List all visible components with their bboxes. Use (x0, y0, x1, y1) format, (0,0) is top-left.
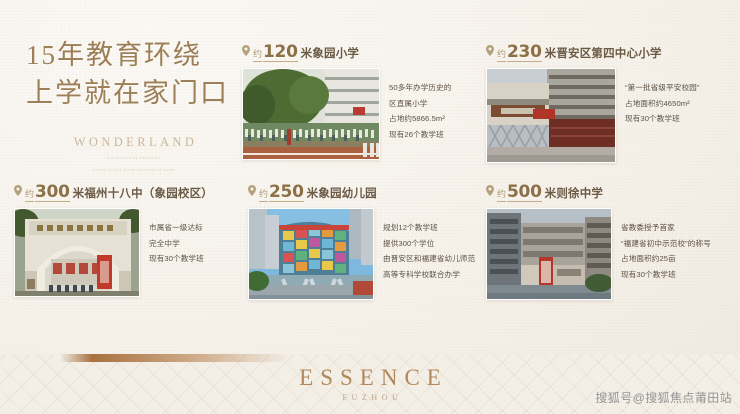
desc-line: “第一批省级平安校园” (625, 80, 736, 96)
desc-line: 规划12个教学班 (383, 220, 488, 236)
school-card-xiangyuan-kindergarten: 约 250 米象园幼儿园 (248, 184, 488, 300)
desc-line: 占地约5866.5m² (389, 111, 474, 127)
desc-line: 现有30个教学班 (621, 267, 736, 283)
map-pin-icon (14, 185, 22, 196)
card-heading: 约 230 米晋安区第四中心小学 (486, 44, 736, 61)
desc-line: 现有26个教学班 (389, 127, 474, 143)
distance-value: 250 (269, 184, 304, 202)
school-building-photo (486, 208, 612, 300)
headline-line-2: 上学就在家门口 (26, 74, 241, 112)
desc-line: 市属省一级达标 (149, 220, 246, 236)
glass-facade-building-photo (248, 208, 374, 300)
headline-subtitle-2: School is just at the doorstep of home (26, 167, 241, 174)
school-assembly-photo (242, 68, 380, 160)
desc-line: 占地面积约25亩 (621, 251, 736, 267)
distance-value: 120 (263, 44, 298, 62)
brand-name: ESSENCE (0, 366, 740, 390)
card-heading: 约 120 米象园小学 (242, 44, 474, 61)
approx-label: 约 (259, 187, 268, 202)
school-description: 规划12个教学班 提供300个学位 由晋安区和福建省幼儿师范 高等专科学校联合办… (374, 208, 488, 282)
card-body: 市属省一级达标 完全中学 现有30个教学班 (14, 208, 246, 297)
desc-line: 区直属小学 (389, 96, 474, 112)
school-arch-gate-photo (14, 208, 140, 297)
school-name: 米则徐中学 (545, 185, 604, 201)
distance-value: 300 (35, 184, 70, 202)
school-description: 省教委授予首家 “福建省初中示范校”的称号 占地面积约25亩 现有30个教学班 (612, 208, 736, 282)
school-description: 50多年办学历史的 区直属小学 占地约5866.5m² 现有26个教学班 (380, 68, 474, 142)
desc-line: 由晋安区和福建省幼儿师范 (383, 251, 488, 267)
desc-line: 提供300个学位 (383, 236, 488, 252)
approx-label: 约 (25, 187, 34, 202)
slide-canvas: 15年教育环绕 上学就在家门口 WONDERLAND Surrounded by… (0, 0, 740, 414)
card-body: 省教委授予首家 “福建省初中示范校”的称号 占地面积约25亩 现有30个教学班 (486, 208, 736, 300)
desc-line: 占地面积约4650m² (625, 96, 736, 112)
school-card-zexu-middle-school: 约 500 米则徐中学 (486, 184, 736, 300)
headline-line-1: 15年教育环绕 (26, 36, 241, 74)
desc-line: 高等专科学校联合办学 (383, 267, 488, 283)
distance-value: 230 (507, 44, 542, 62)
approx-label: 约 (253, 47, 262, 62)
sohu-watermark: 搜狐号@搜狐焦点莆田站 (595, 389, 732, 406)
school-name: 米象园幼儿园 (307, 185, 377, 201)
card-body: 50多年办学历史的 区直属小学 占地约5866.5m² 现有26个教学班 (242, 68, 474, 160)
desc-line: “福建省初中示范校”的称号 (621, 236, 736, 252)
card-heading: 约 250 米象园幼儿园 (248, 184, 488, 201)
card-body: 规划12个教学班 提供300个学位 由晋安区和福建省幼儿师范 高等专科学校联合办… (248, 208, 488, 300)
map-pin-icon (242, 45, 250, 56)
school-card-fuzhou-no18-middle: 约 300 米福州十八中（象园校区） (14, 184, 246, 297)
approx-label: 约 (497, 47, 506, 62)
card-heading: 约 300 米福州十八中（象园校区） (14, 184, 246, 201)
desc-line: 现有30个教学班 (149, 251, 246, 267)
desc-line: 完全中学 (149, 236, 246, 252)
school-description: 市属省一级达标 完全中学 现有30个教学班 (140, 208, 246, 267)
approx-label: 约 (497, 187, 506, 202)
headline-block: 15年教育环绕 上学就在家门口 WONDERLAND Surrounded by… (26, 36, 241, 174)
desc-line: 50多年办学历史的 (389, 80, 474, 96)
card-heading: 约 500 米则徐中学 (486, 184, 736, 201)
school-card-xiangyuan-primary: 约 120 米象园小学 (242, 44, 474, 160)
map-pin-icon (486, 45, 494, 56)
headline-subtitle-1: Surrounded by education (26, 155, 241, 162)
card-body: “第一批省级平安校园” 占地面积约4650m² 现有30个教学班 (486, 68, 736, 163)
divider-bar (60, 354, 290, 362)
desc-line: 现有30个教学班 (625, 111, 736, 127)
school-name: 米福州十八中（象园校区） (73, 185, 213, 201)
school-card-jinan-no4-center-primary: 约 230 米晋安区第四中心小学 (486, 44, 736, 163)
brand-word: WONDERLAND (26, 135, 241, 150)
map-pin-icon (248, 185, 256, 196)
school-description: “第一批省级平安校园” 占地面积约4650m² 现有30个教学班 (616, 68, 736, 127)
desc-line: 省教委授予首家 (621, 220, 736, 236)
school-gate-photo (486, 68, 616, 163)
school-name: 米晋安区第四中心小学 (545, 45, 662, 61)
school-name: 米象园小学 (301, 45, 360, 61)
distance-value: 500 (507, 184, 542, 202)
map-pin-icon (486, 185, 494, 196)
